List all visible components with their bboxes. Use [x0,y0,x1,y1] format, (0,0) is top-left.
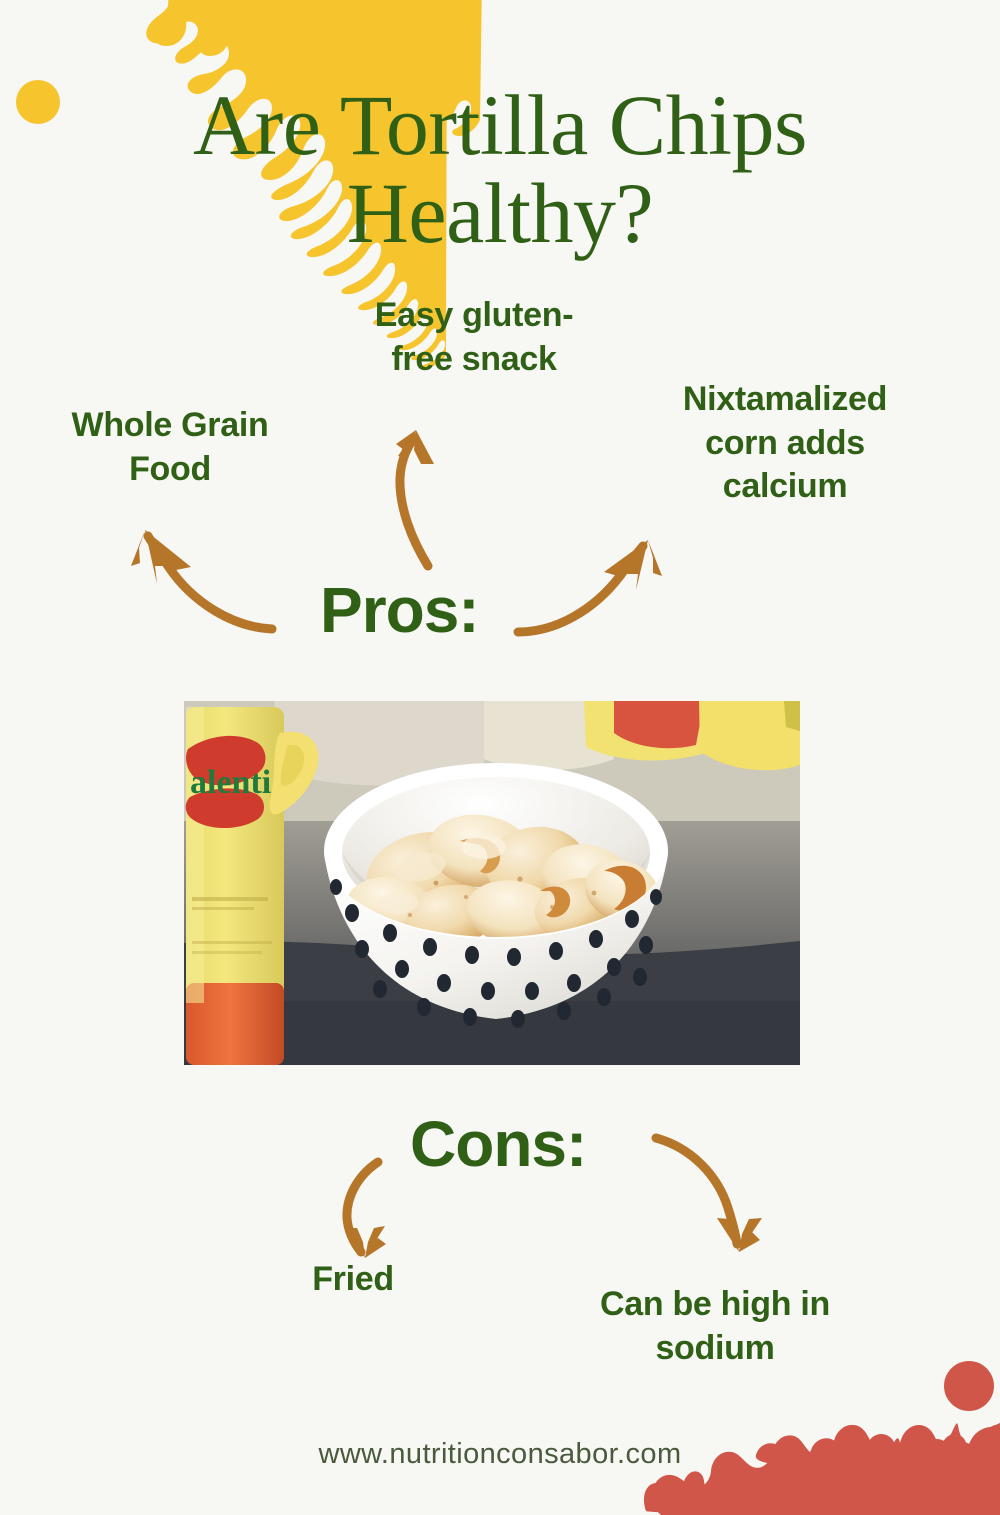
cons-heading: Cons: [410,1112,586,1176]
hot-sauce-bottle: alenti [186,707,284,1065]
hero-photo-illustration: alenti [184,701,800,1065]
hero-photo: alenti [184,701,800,1065]
footer-website-url[interactable]: www.nutritionconsabor.com [0,1438,1000,1471]
pros-arrow-left [131,530,272,629]
pros-arrow-middle [396,430,434,566]
pros-heading: Pros: [320,578,479,642]
infographic-poster: Are Tortilla Chips Healthy? Whole Grain … [0,0,1000,1515]
pros-arrow-right [518,540,662,632]
cons-arrow-right [656,1138,762,1252]
page-title: Are Tortilla Chips Healthy? [0,82,1000,257]
cons-item-label-sodium: Can be high in sodium [520,1283,910,1370]
pros-item-label-nixtamalized: Nixtamalized corn adds calcium [622,378,948,509]
cons-arrow-left [347,1162,386,1258]
pros-item-label-whole-grain: Whole Grain Food [10,404,330,491]
cons-item-label-fried: Fried [208,1258,498,1302]
bottle-label-text: alenti [190,764,271,801]
pros-item-label-gluten-free: Easy gluten- free snack [318,294,630,381]
red-dot [944,1361,994,1411]
